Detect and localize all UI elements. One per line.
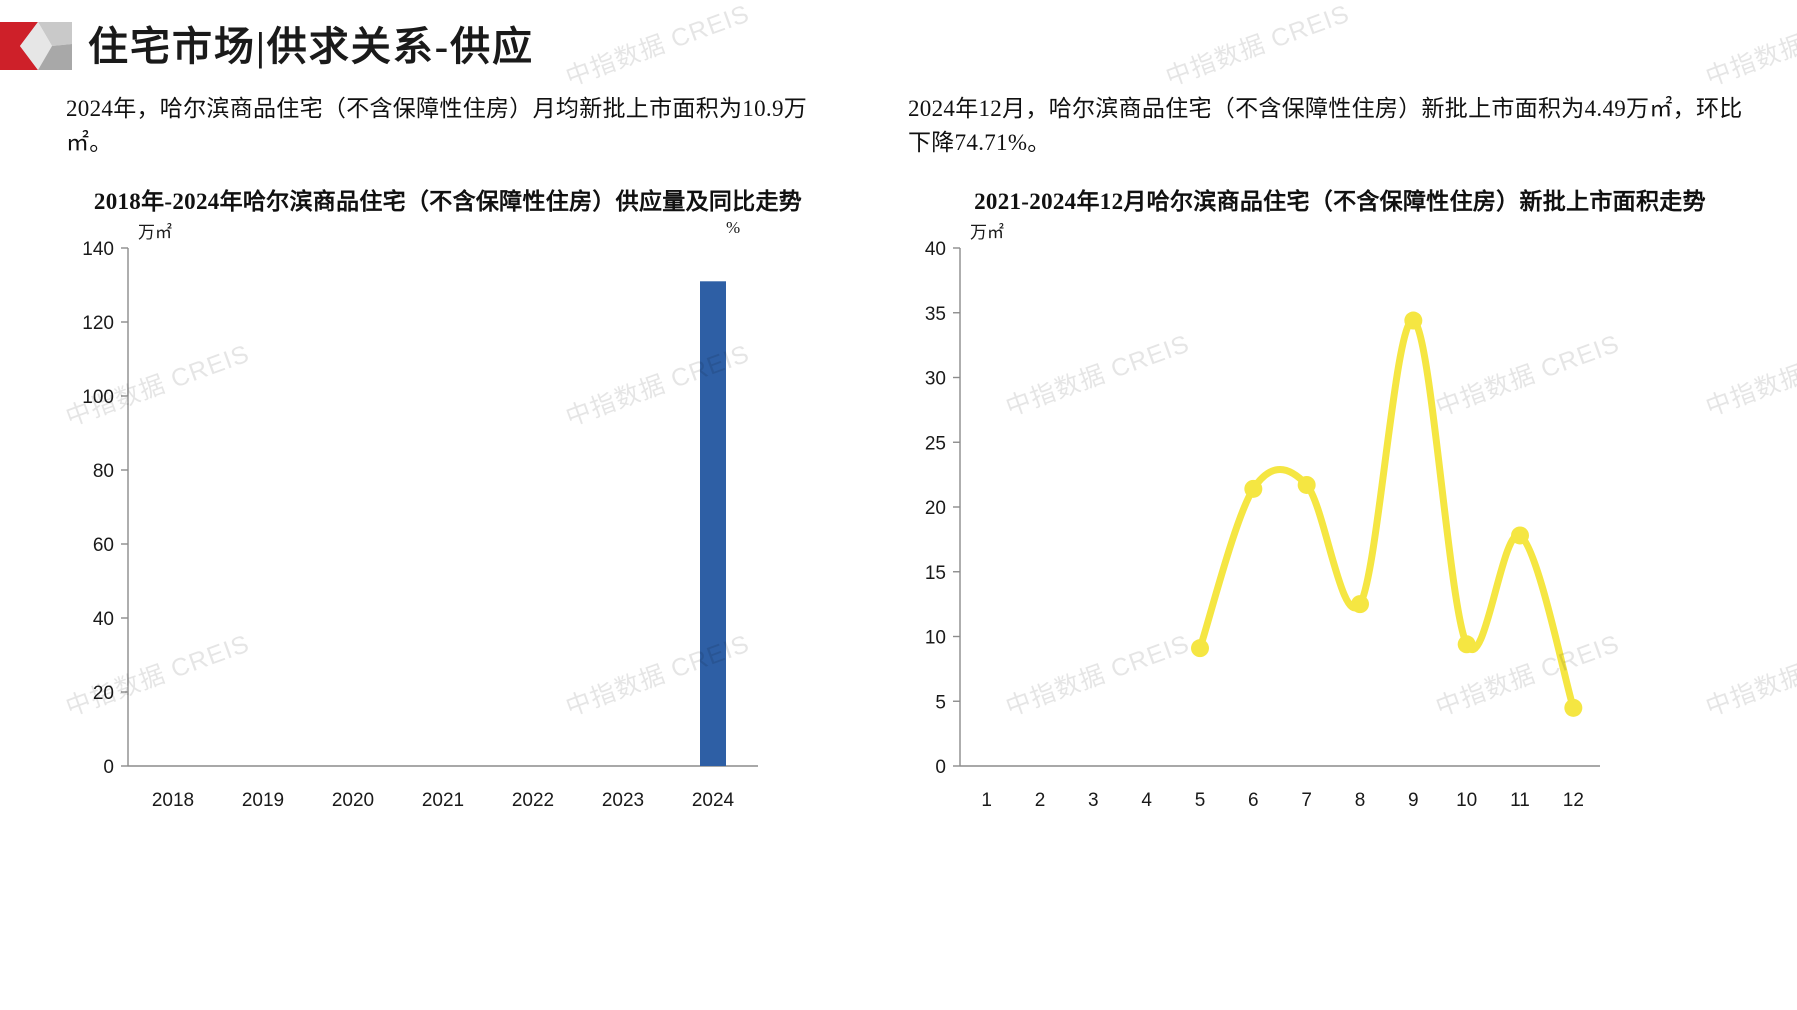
- left-panel: 2024年，哈尔滨商品住宅（不含保障性住房）月均新批上市面积为10.9万㎡。 2…: [8, 92, 888, 992]
- left-chart-x-tick: 2023: [602, 790, 644, 811]
- right-chart-title: 2021-2024年12月哈尔滨商品住宅（不含保障性住房）新批上市面积走势: [900, 160, 1780, 218]
- data-point-month-12: [1564, 699, 1582, 717]
- right-chart-y-tick: 0: [935, 757, 946, 778]
- right-chart-y-tick: 30: [925, 369, 946, 390]
- left-chart-y-tick: 60: [93, 535, 114, 556]
- right-chart-y-tick: 20: [925, 498, 946, 519]
- data-point-month-10: [1458, 635, 1476, 653]
- bar-2024: [700, 281, 726, 766]
- left-summary-text: 2024年，哈尔滨商品住宅（不含保障性住房）月均新批上市面积为10.9万㎡。: [8, 92, 888, 160]
- right-chart-plot-area: 0510152025303540123456789101112: [900, 226, 1780, 846]
- brand-logo-icon: [0, 22, 72, 70]
- supply-bar-chart: 万㎡ % 02040608010012014020182019202020212…: [8, 226, 888, 846]
- right-chart-x-tick: 6: [1248, 790, 1259, 811]
- right-chart-x-tick: 4: [1141, 790, 1152, 811]
- left-chart-y-tick: 20: [93, 683, 114, 704]
- right-chart-x-tick: 1: [981, 790, 992, 811]
- data-point-month-6: [1244, 480, 1262, 498]
- left-chart-y-tick: 140: [82, 239, 114, 260]
- right-chart-y-tick: 25: [925, 433, 946, 454]
- right-chart-x-tick: 9: [1408, 790, 1419, 811]
- left-chart-y-tick: 0: [103, 757, 114, 778]
- left-chart-x-tick: 2019: [242, 790, 284, 811]
- data-point-month-8: [1351, 595, 1369, 613]
- data-point-month-11: [1511, 526, 1529, 544]
- right-chart-y-tick: 35: [925, 304, 946, 325]
- left-chart-x-tick: 2024: [692, 790, 735, 811]
- left-chart-y-tick: 80: [93, 461, 114, 482]
- right-chart-x-tick: 8: [1355, 790, 1366, 811]
- left-chart-y-tick: 120: [82, 313, 114, 334]
- left-chart-title: 2018年-2024年哈尔滨商品住宅（不含保障性住房）供应量及同比走势: [8, 160, 888, 218]
- right-chart-y-tick: 5: [935, 692, 946, 713]
- slide-root: 住宅市场|供求关系-供应 2024年，哈尔滨商品住宅（不含保障性住房）月均新批上…: [0, 0, 1797, 1010]
- right-chart-x-tick: 12: [1563, 790, 1584, 811]
- page-title: 住宅市场|供求关系-供应: [88, 14, 534, 72]
- left-chart-x-tick: 2018: [152, 790, 194, 811]
- left-chart-x-tick: 2020: [332, 790, 374, 811]
- right-chart-y-tick: 15: [925, 563, 946, 584]
- left-chart-y-tick: 40: [93, 609, 114, 630]
- right-chart-x-tick: 7: [1301, 790, 1312, 811]
- data-point-month-9: [1404, 312, 1422, 330]
- data-point-month-7: [1298, 476, 1316, 494]
- line-series: [1200, 320, 1573, 707]
- right-chart-x-tick: 2: [1035, 790, 1046, 811]
- right-chart-y-tick: 10: [925, 628, 946, 649]
- right-chart-x-tick: 11: [1510, 790, 1530, 811]
- right-summary-text: 2024年12月，哈尔滨商品住宅（不含保障性住房）新批上市面积为4.49万㎡，环…: [900, 92, 1780, 160]
- data-point-month-5: [1191, 639, 1209, 657]
- right-chart-x-tick: 10: [1456, 790, 1477, 811]
- left-chart-plot-area: 0204060801001201402018201920202021202220…: [8, 226, 888, 846]
- right-panel: 2024年12月，哈尔滨商品住宅（不含保障性住房）新批上市面积为4.49万㎡，环…: [900, 92, 1780, 992]
- left-chart-x-tick: 2021: [422, 790, 464, 811]
- right-chart-x-tick: 5: [1195, 790, 1206, 811]
- left-chart-y-tick: 100: [82, 387, 114, 408]
- monthly-line-chart: 万㎡ 0510152025303540123456789101112: [900, 226, 1780, 846]
- left-chart-x-tick: 2022: [512, 790, 554, 811]
- slide-header: 住宅市场|供求关系-供应: [0, 8, 1797, 80]
- right-chart-x-tick: 3: [1088, 790, 1099, 811]
- right-chart-y-tick: 40: [925, 239, 946, 260]
